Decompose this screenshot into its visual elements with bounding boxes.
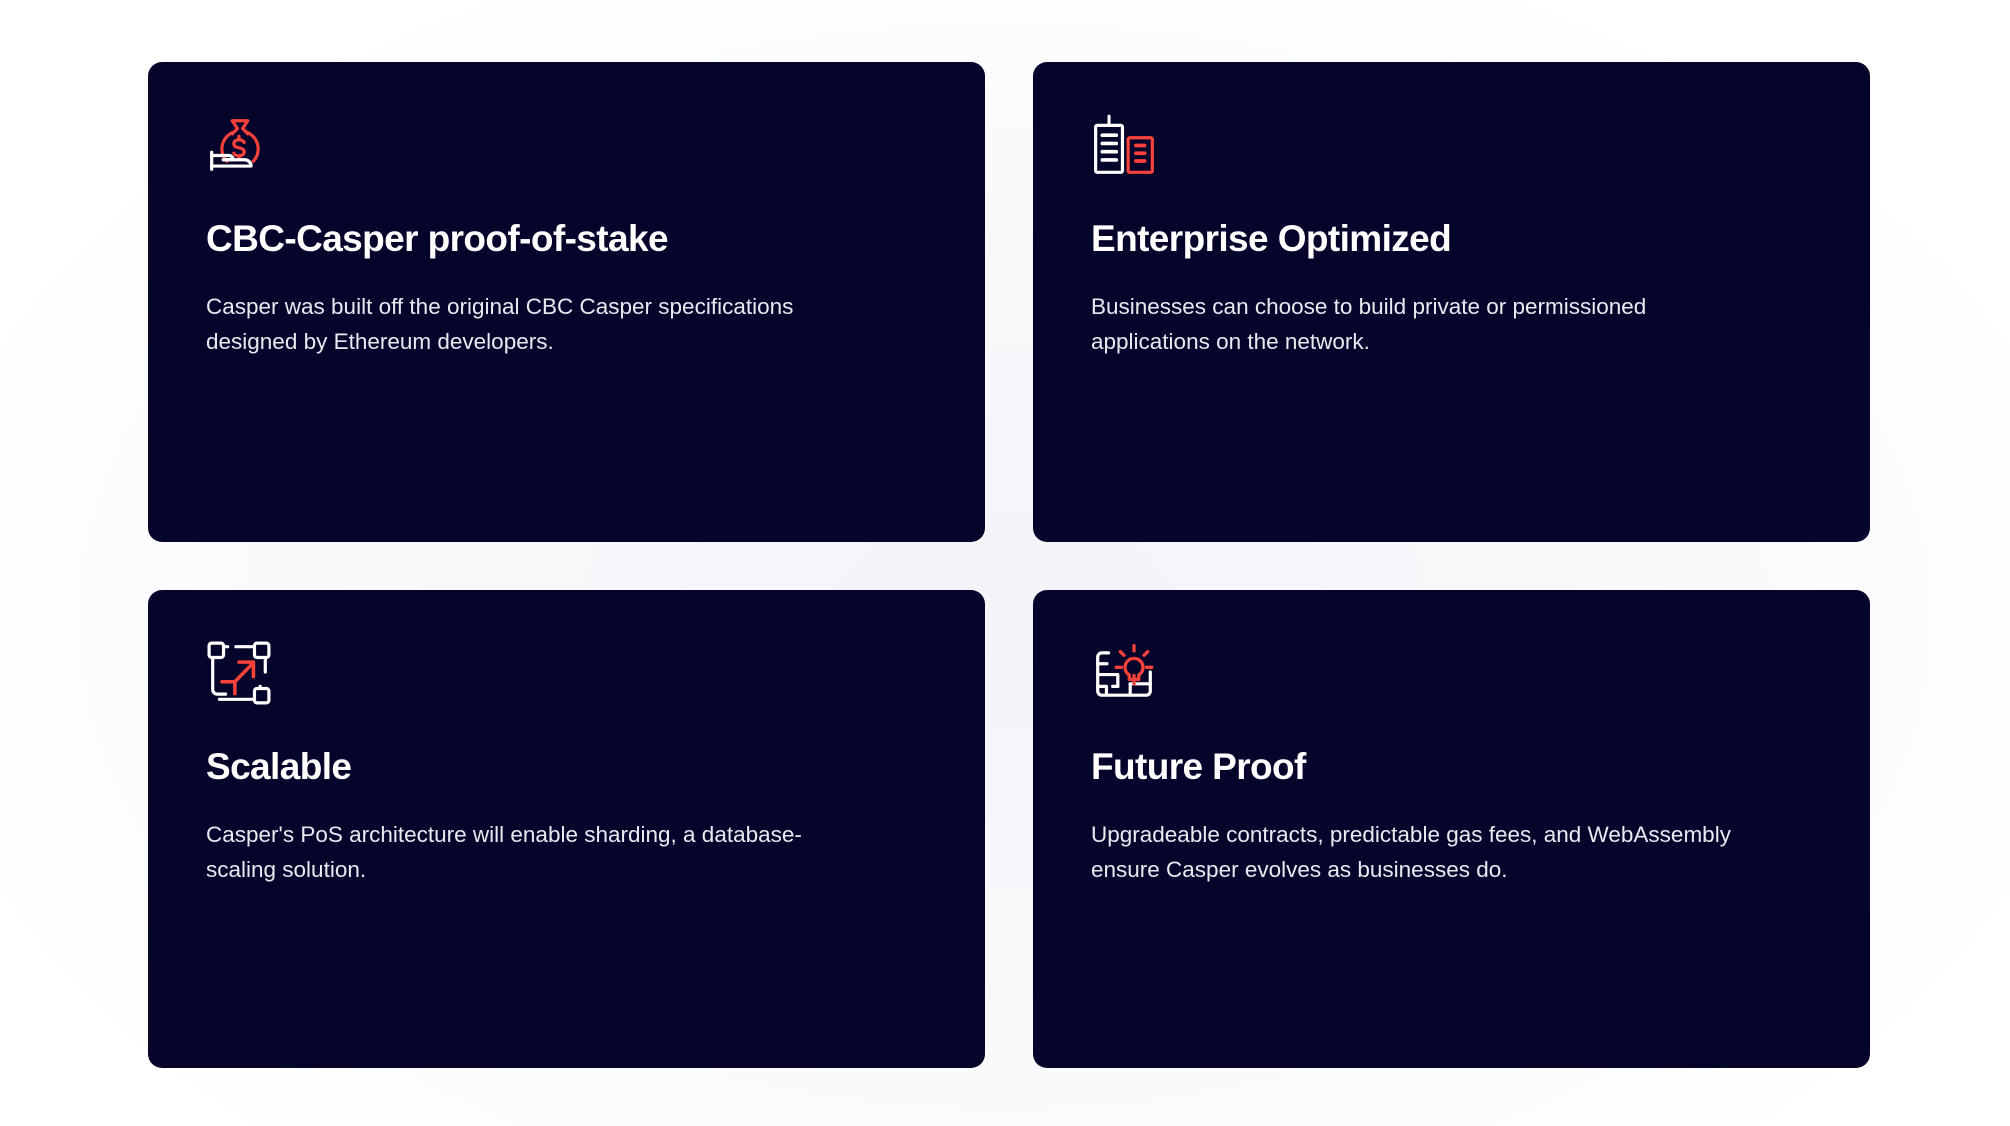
card-description: Casper's PoS architecture will enable sh… <box>206 817 866 888</box>
card-title: Enterprise Optimized <box>1091 218 1812 261</box>
card-description: Businesses can choose to build private o… <box>1091 289 1751 360</box>
card-title: Scalable <box>206 746 927 789</box>
money-bag-hand-icon <box>206 112 272 178</box>
feature-card-future-proof[interactable]: Future Proof Upgradeable contracts, pred… <box>1033 590 1870 1068</box>
card-title: CBC-Casper proof-of-stake <box>206 218 927 261</box>
scale-expand-arrow-icon <box>206 640 272 706</box>
card-description: Casper was built off the original CBC Ca… <box>206 289 866 360</box>
blueprint-lightbulb-icon <box>1091 640 1157 706</box>
feature-card-grid: CBC-Casper proof-of-stake Casper was bui… <box>148 62 1870 1068</box>
office-buildings-icon <box>1091 112 1157 178</box>
feature-card-enterprise-optimized[interactable]: Enterprise Optimized Businesses can choo… <box>1033 62 1870 542</box>
feature-card-cbc-casper[interactable]: CBC-Casper proof-of-stake Casper was bui… <box>148 62 985 542</box>
card-description: Upgradeable contracts, predictable gas f… <box>1091 817 1791 888</box>
feature-card-scalable[interactable]: Scalable Casper's PoS architecture will … <box>148 590 985 1068</box>
card-title: Future Proof <box>1091 746 1812 789</box>
